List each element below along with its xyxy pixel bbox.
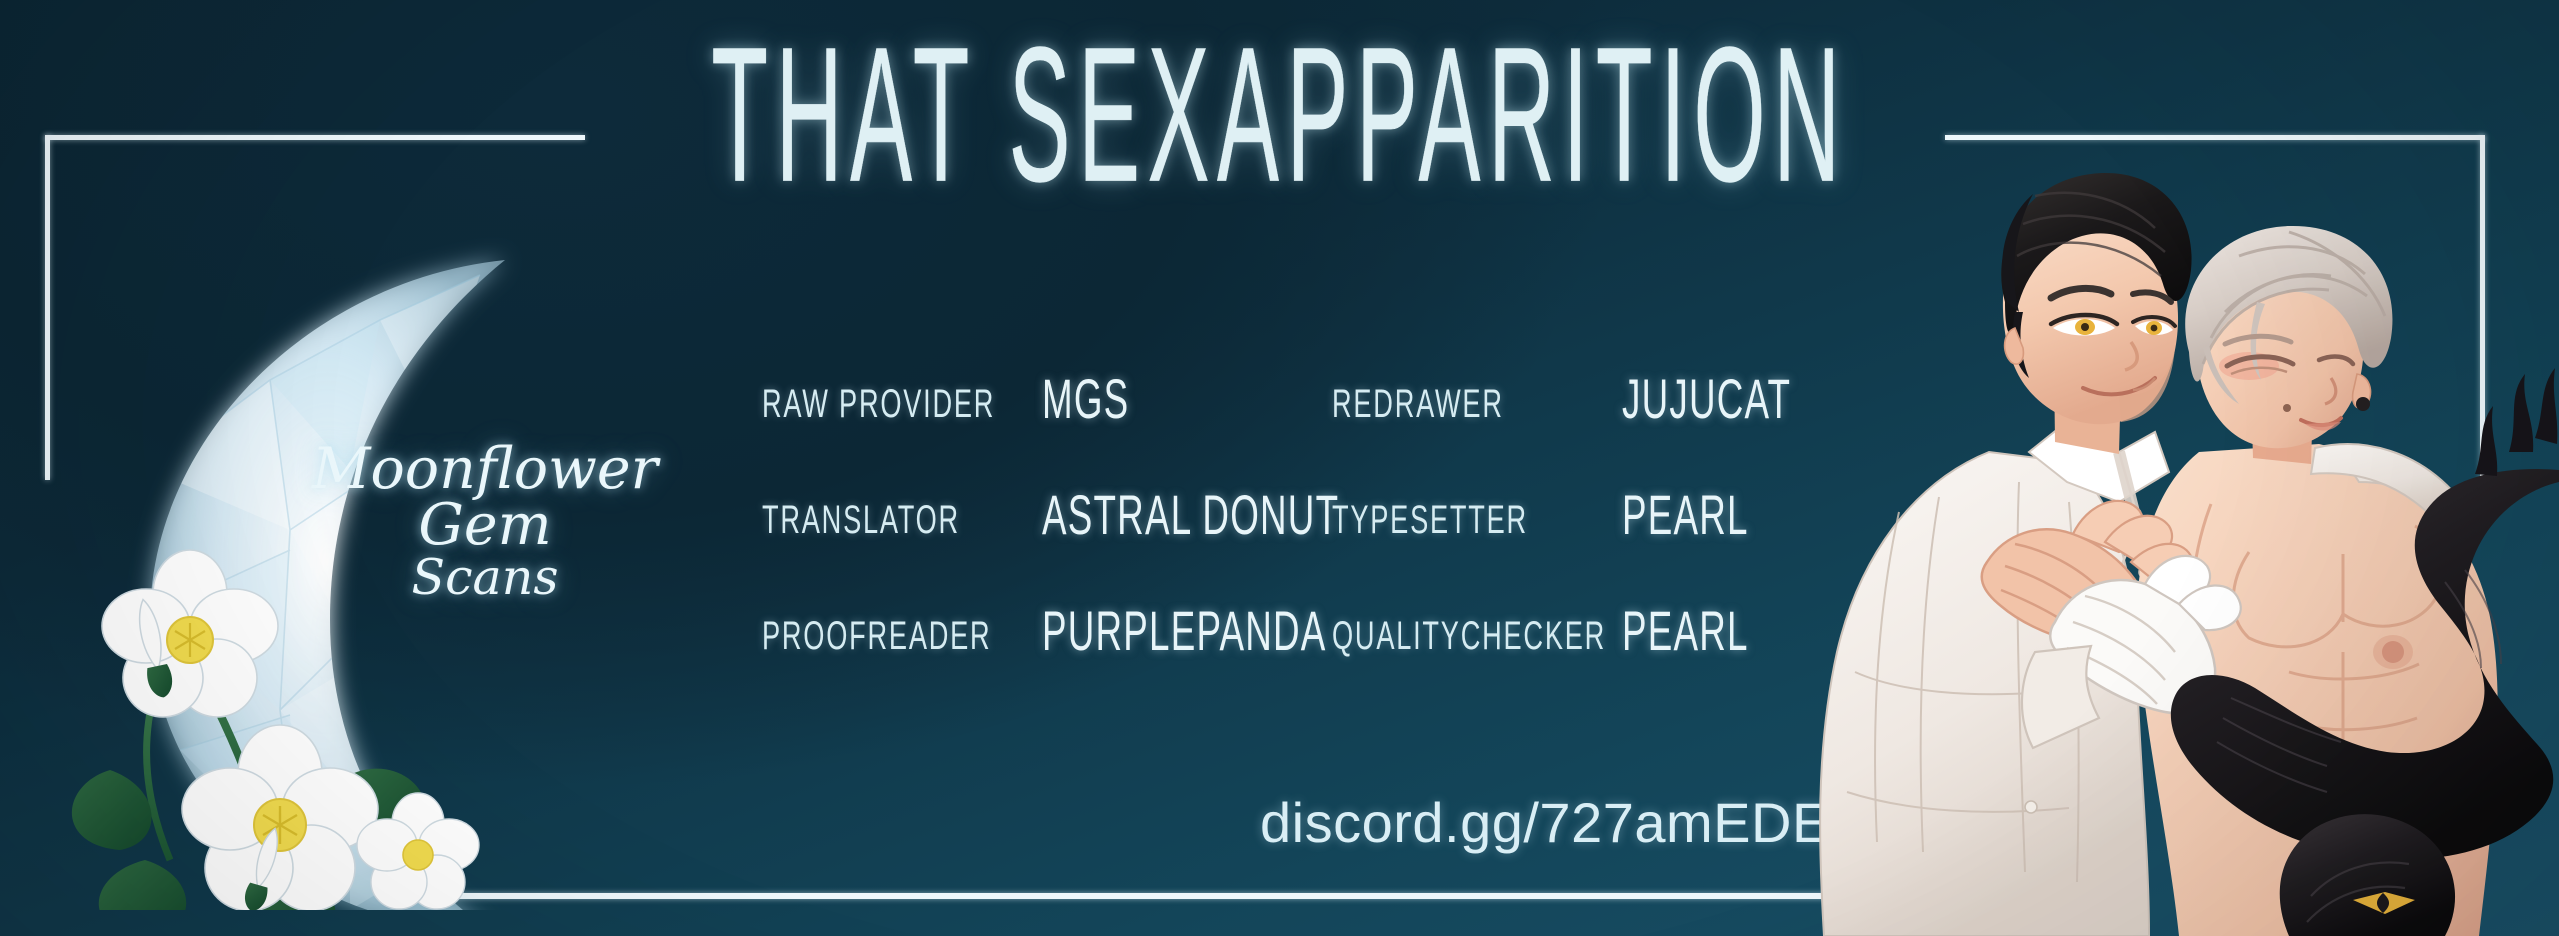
credit-name-value: PURPLEPANDA xyxy=(1042,599,1274,664)
credit-pair-redrawer: REDRAWER JUJUCAT xyxy=(1332,372,1892,426)
credit-role-label: TRANSLATOR xyxy=(762,497,986,543)
table-row: TRANSLATOR ASTRAL DONUT TYPESETTER PEARL xyxy=(762,488,1892,604)
credit-role-label: PROOFREADER xyxy=(762,613,986,659)
credit-pair-translator: TRANSLATOR ASTRAL DONUT xyxy=(762,488,1332,542)
credit-name-value: PEARL xyxy=(1622,483,1838,548)
credit-name-value: ASTRAL DONUT xyxy=(1042,483,1274,548)
credit-name-value: JUJUCAT xyxy=(1622,367,1838,432)
credit-pair-raw-provider: RAW PROVIDER MGS xyxy=(762,372,1332,426)
credit-pair-typesetter: TYPESETTER PEARL xyxy=(1332,488,1892,542)
cover-artwork xyxy=(1819,152,2559,936)
moon-and-flowers-graphic xyxy=(50,170,710,910)
credit-name-value: MGS xyxy=(1042,367,1274,432)
credit-pair-proofreader: PROOFREADER PURPLEPANDA xyxy=(762,604,1332,658)
credit-name-value: PEARL xyxy=(1622,599,1838,664)
credits-table: RAW PROVIDER MGS REDRAWER JUJUCAT TRANSL… xyxy=(762,372,1892,720)
credit-role-label: RAW PROVIDER xyxy=(762,381,986,427)
scanlation-credits-banner: THAT SEXAPPARITION xyxy=(0,0,2559,936)
credit-role-label: REDRAWER xyxy=(1332,381,1564,427)
discord-invite-link[interactable]: discord.gg/727amEDEpt xyxy=(1260,790,1878,855)
credit-role-label: TYPESETTER xyxy=(1332,497,1564,543)
table-row: PROOFREADER PURPLEPANDA QUALITYCHECKER P… xyxy=(762,604,1892,720)
credit-role-label: QUALITYCHECKER xyxy=(1332,613,1564,659)
table-row: RAW PROVIDER MGS REDRAWER JUJUCAT xyxy=(762,372,1892,488)
scanlation-group-logo: Moonflower Gem Scans xyxy=(50,170,710,910)
two-men-embrace-illustration xyxy=(1819,152,2559,936)
credit-pair-qualitychecker: QUALITYCHECKER PEARL xyxy=(1332,604,1892,658)
